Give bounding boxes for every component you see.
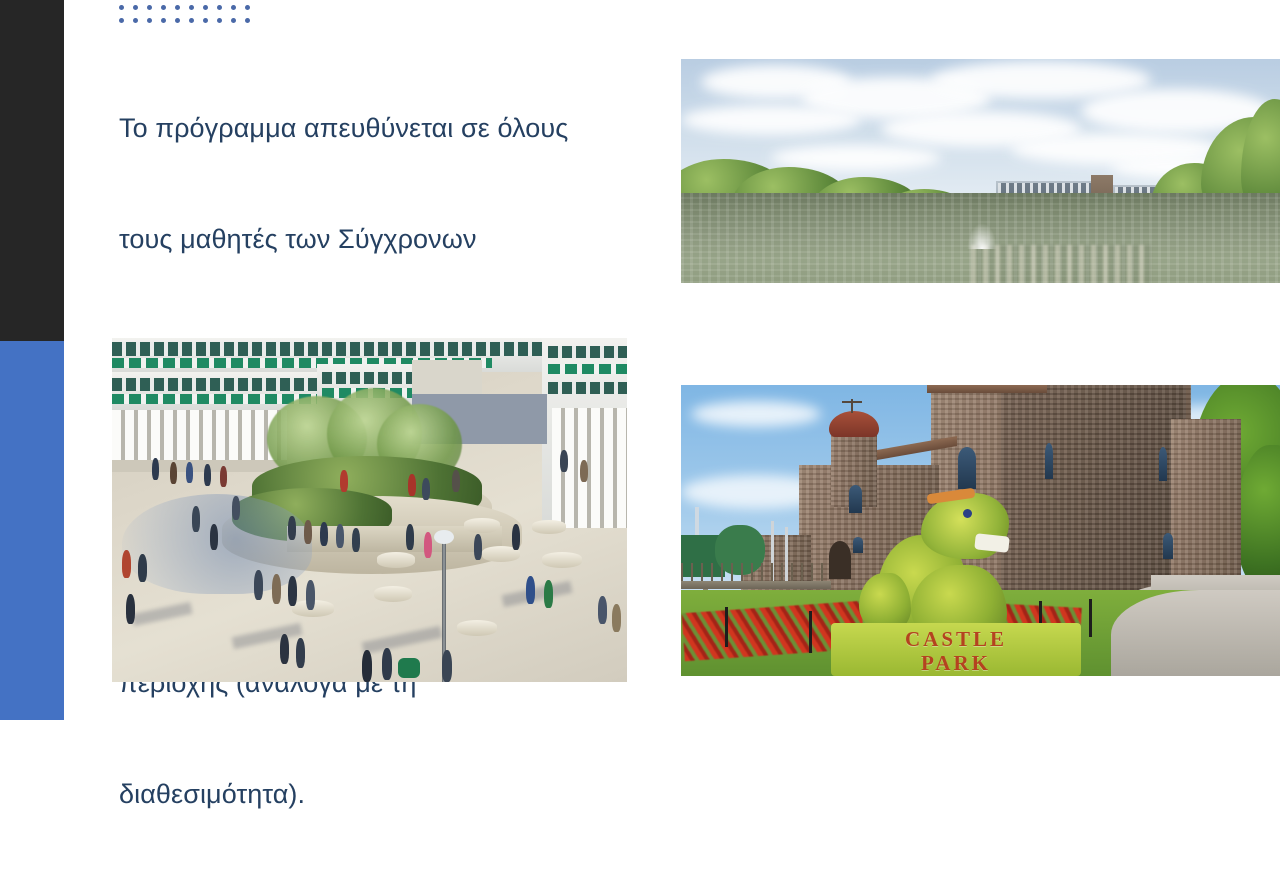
person-figure — [544, 580, 553, 608]
dragon-eye — [963, 509, 972, 518]
person-figure — [526, 576, 535, 604]
dot-icon — [133, 18, 138, 23]
green-bag — [398, 658, 420, 678]
person-figure — [512, 524, 520, 550]
person-figure — [612, 604, 621, 632]
bridge-railing — [681, 563, 831, 581]
person-figure — [422, 478, 430, 500]
sign-text-line-1: CASTLE — [831, 627, 1081, 652]
person-figure — [474, 534, 482, 560]
body-line: τους μαθητές των Σύγχρονων — [119, 221, 649, 258]
slide-canvas: Το πρόγραμμα απευθύνεται σε όλους τους μ… — [0, 0, 1280, 720]
person-figure — [204, 464, 211, 486]
dot-icon — [161, 18, 166, 23]
campus-square-scene — [112, 338, 627, 682]
person-figure — [442, 650, 452, 682]
person-figure — [288, 576, 297, 606]
dot-icon — [245, 5, 250, 10]
bridge-deck — [681, 581, 831, 589]
dot-grid-decoration — [119, 5, 250, 23]
person-figure — [598, 596, 607, 624]
bed-post — [809, 611, 812, 653]
round-table — [377, 552, 415, 568]
castle-window-slit — [1159, 447, 1167, 481]
castle-park-photo: CASTLE PARK — [681, 385, 1280, 676]
round-table — [532, 520, 566, 534]
dot-icon — [147, 5, 152, 10]
person-figure — [210, 524, 218, 550]
fountain-spray — [967, 223, 997, 249]
window-band — [548, 382, 627, 394]
person-figure — [406, 524, 414, 550]
campus-square-photo — [112, 338, 627, 682]
dot-icon — [133, 5, 138, 10]
body-line: διαθεσιμότητα). — [119, 776, 649, 813]
dot-icon — [147, 18, 152, 23]
person-figure — [306, 580, 315, 610]
accent-bar-blue — [0, 341, 64, 720]
castle-keep-side — [1171, 419, 1241, 595]
dot-icon — [161, 5, 166, 10]
castle-keep-dark-face — [1001, 385, 1186, 600]
dot-icon — [217, 5, 222, 10]
roof-edge — [927, 385, 1047, 393]
dot-row — [119, 18, 250, 23]
dot-icon — [231, 5, 236, 10]
dot-icon — [203, 5, 208, 10]
person-figure — [138, 554, 147, 582]
person-figure — [320, 522, 328, 546]
sign-text-line-2: PARK — [831, 651, 1081, 676]
dot-icon — [217, 18, 222, 23]
person-figure — [340, 470, 348, 492]
colonnade-base — [112, 460, 287, 472]
person-figure — [304, 520, 312, 544]
person-figure — [186, 462, 193, 483]
campus-lake-scene — [681, 59, 1280, 283]
dot-icon — [189, 18, 194, 23]
person-figure — [352, 528, 360, 552]
castle-park-scene: CASTLE PARK — [681, 385, 1280, 676]
castle-window — [958, 447, 976, 489]
castle-window — [849, 485, 862, 513]
person-figure — [362, 650, 372, 682]
person-figure — [424, 532, 432, 558]
person-figure — [152, 458, 159, 480]
round-table — [457, 620, 497, 636]
person-figure — [192, 506, 200, 532]
dot-icon — [203, 18, 208, 23]
accent-bar-dark — [0, 0, 64, 341]
bed-post — [1089, 599, 1092, 637]
dot-icon — [119, 18, 124, 23]
castle-window — [1163, 533, 1173, 559]
dot-icon — [189, 5, 194, 10]
colonnade — [112, 410, 287, 462]
dragon-mouth — [974, 533, 1009, 552]
dot-icon — [231, 18, 236, 23]
dot-row — [119, 5, 250, 10]
round-table — [542, 552, 582, 568]
castle-doorway — [829, 541, 851, 579]
person-figure — [232, 496, 240, 520]
person-figure — [220, 466, 227, 487]
person-figure — [408, 474, 416, 496]
park-path — [1111, 590, 1280, 676]
person-figure — [254, 570, 263, 600]
person-figure — [280, 634, 289, 664]
person-figure — [170, 462, 177, 484]
person-figure — [288, 516, 296, 540]
cloud-shape — [691, 401, 821, 427]
person-figure — [382, 648, 392, 680]
body-line: Το πρόγραμμα απευθύνεται σε όλους — [119, 110, 649, 147]
dot-icon — [175, 18, 180, 23]
castle-window — [853, 537, 863, 553]
person-figure — [336, 524, 344, 548]
dot-icon — [245, 18, 250, 23]
dot-icon — [175, 5, 180, 10]
lamp-head — [434, 530, 454, 544]
person-figure — [296, 638, 305, 668]
person-figure — [272, 574, 281, 604]
person-figure — [126, 594, 135, 624]
campus-lake-photo — [681, 59, 1280, 283]
round-table — [374, 586, 412, 602]
person-figure — [452, 470, 460, 492]
round-table — [464, 518, 500, 533]
dot-icon — [119, 5, 124, 10]
green-window-band — [548, 364, 627, 374]
bed-post — [725, 607, 728, 647]
castle-park-sign: CASTLE PARK — [831, 623, 1081, 676]
person-figure — [122, 550, 131, 578]
weathervane-arm — [842, 401, 862, 403]
castle-window-slit — [1045, 443, 1053, 479]
building-reflection — [971, 245, 1151, 283]
person-figure — [560, 450, 568, 472]
person-figure — [580, 460, 588, 482]
cloud-shape — [681, 105, 861, 135]
window-band — [548, 346, 627, 358]
